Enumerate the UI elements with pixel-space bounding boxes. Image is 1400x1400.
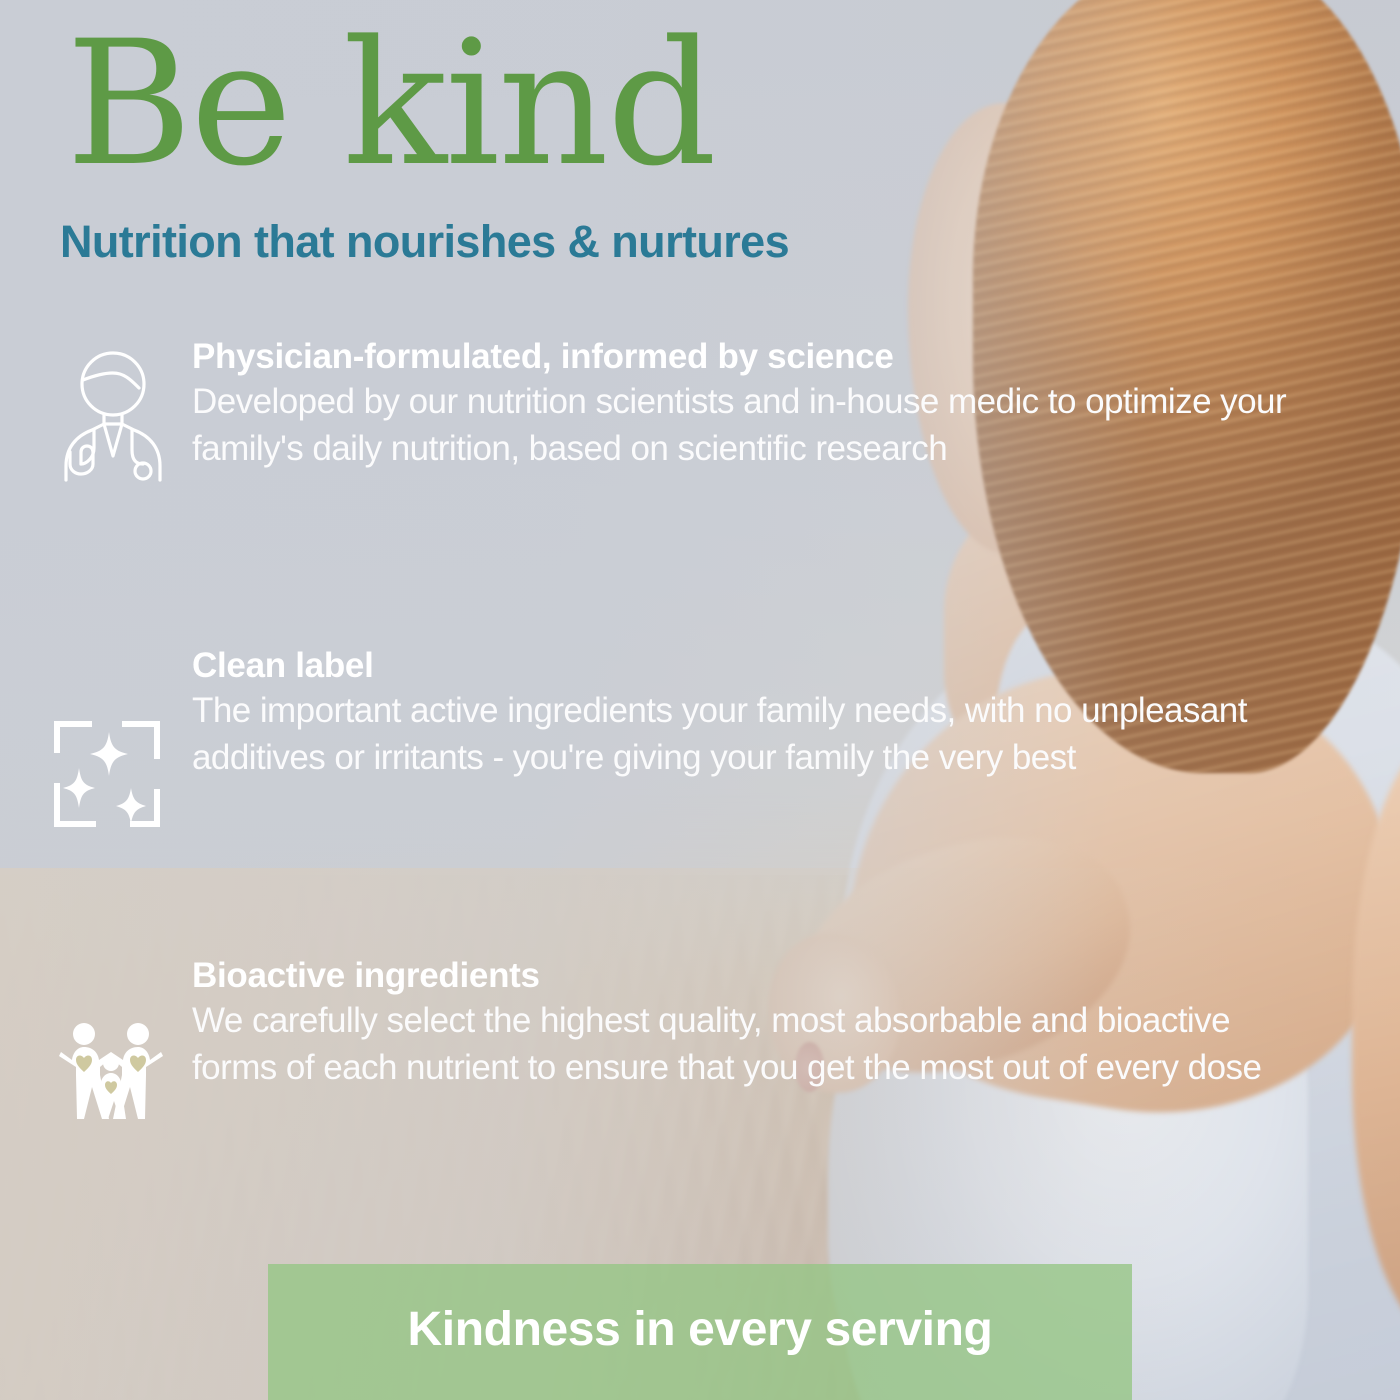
feature-title: Bioactive ingredients xyxy=(192,955,1302,996)
feature-body: We carefully select the highest quality,… xyxy=(192,998,1302,1092)
content-layer: Be kind Nutrition that nourishes & nurtu… xyxy=(0,0,1400,1400)
page-title: Be kind xyxy=(66,18,715,190)
family-hearts-icon xyxy=(46,1005,176,1135)
sparkle-frame-icon xyxy=(42,709,172,839)
feature-title: Physician-formulated, informed by scienc… xyxy=(192,336,1302,377)
feature-body: Developed by our nutrition scientists an… xyxy=(192,379,1302,473)
feature-text: Bioactive ingredients We carefully selec… xyxy=(192,955,1302,1092)
tagline-text: Kindness in every serving xyxy=(408,1302,993,1363)
page-subtitle: Nutrition that nourishes & nurtures xyxy=(60,216,789,268)
tagline-banner: Kindness in every serving xyxy=(268,1264,1132,1400)
doctor-icon xyxy=(48,344,178,484)
promo-graphic: Be kind Nutrition that nourishes & nurtu… xyxy=(0,0,1400,1400)
feature-body: The important active ingredients your fa… xyxy=(192,688,1302,782)
feature-text: Clean label The important active ingredi… xyxy=(192,645,1302,782)
feature-title: Clean label xyxy=(192,645,1302,686)
feature-text: Physician-formulated, informed by scienc… xyxy=(192,336,1302,473)
